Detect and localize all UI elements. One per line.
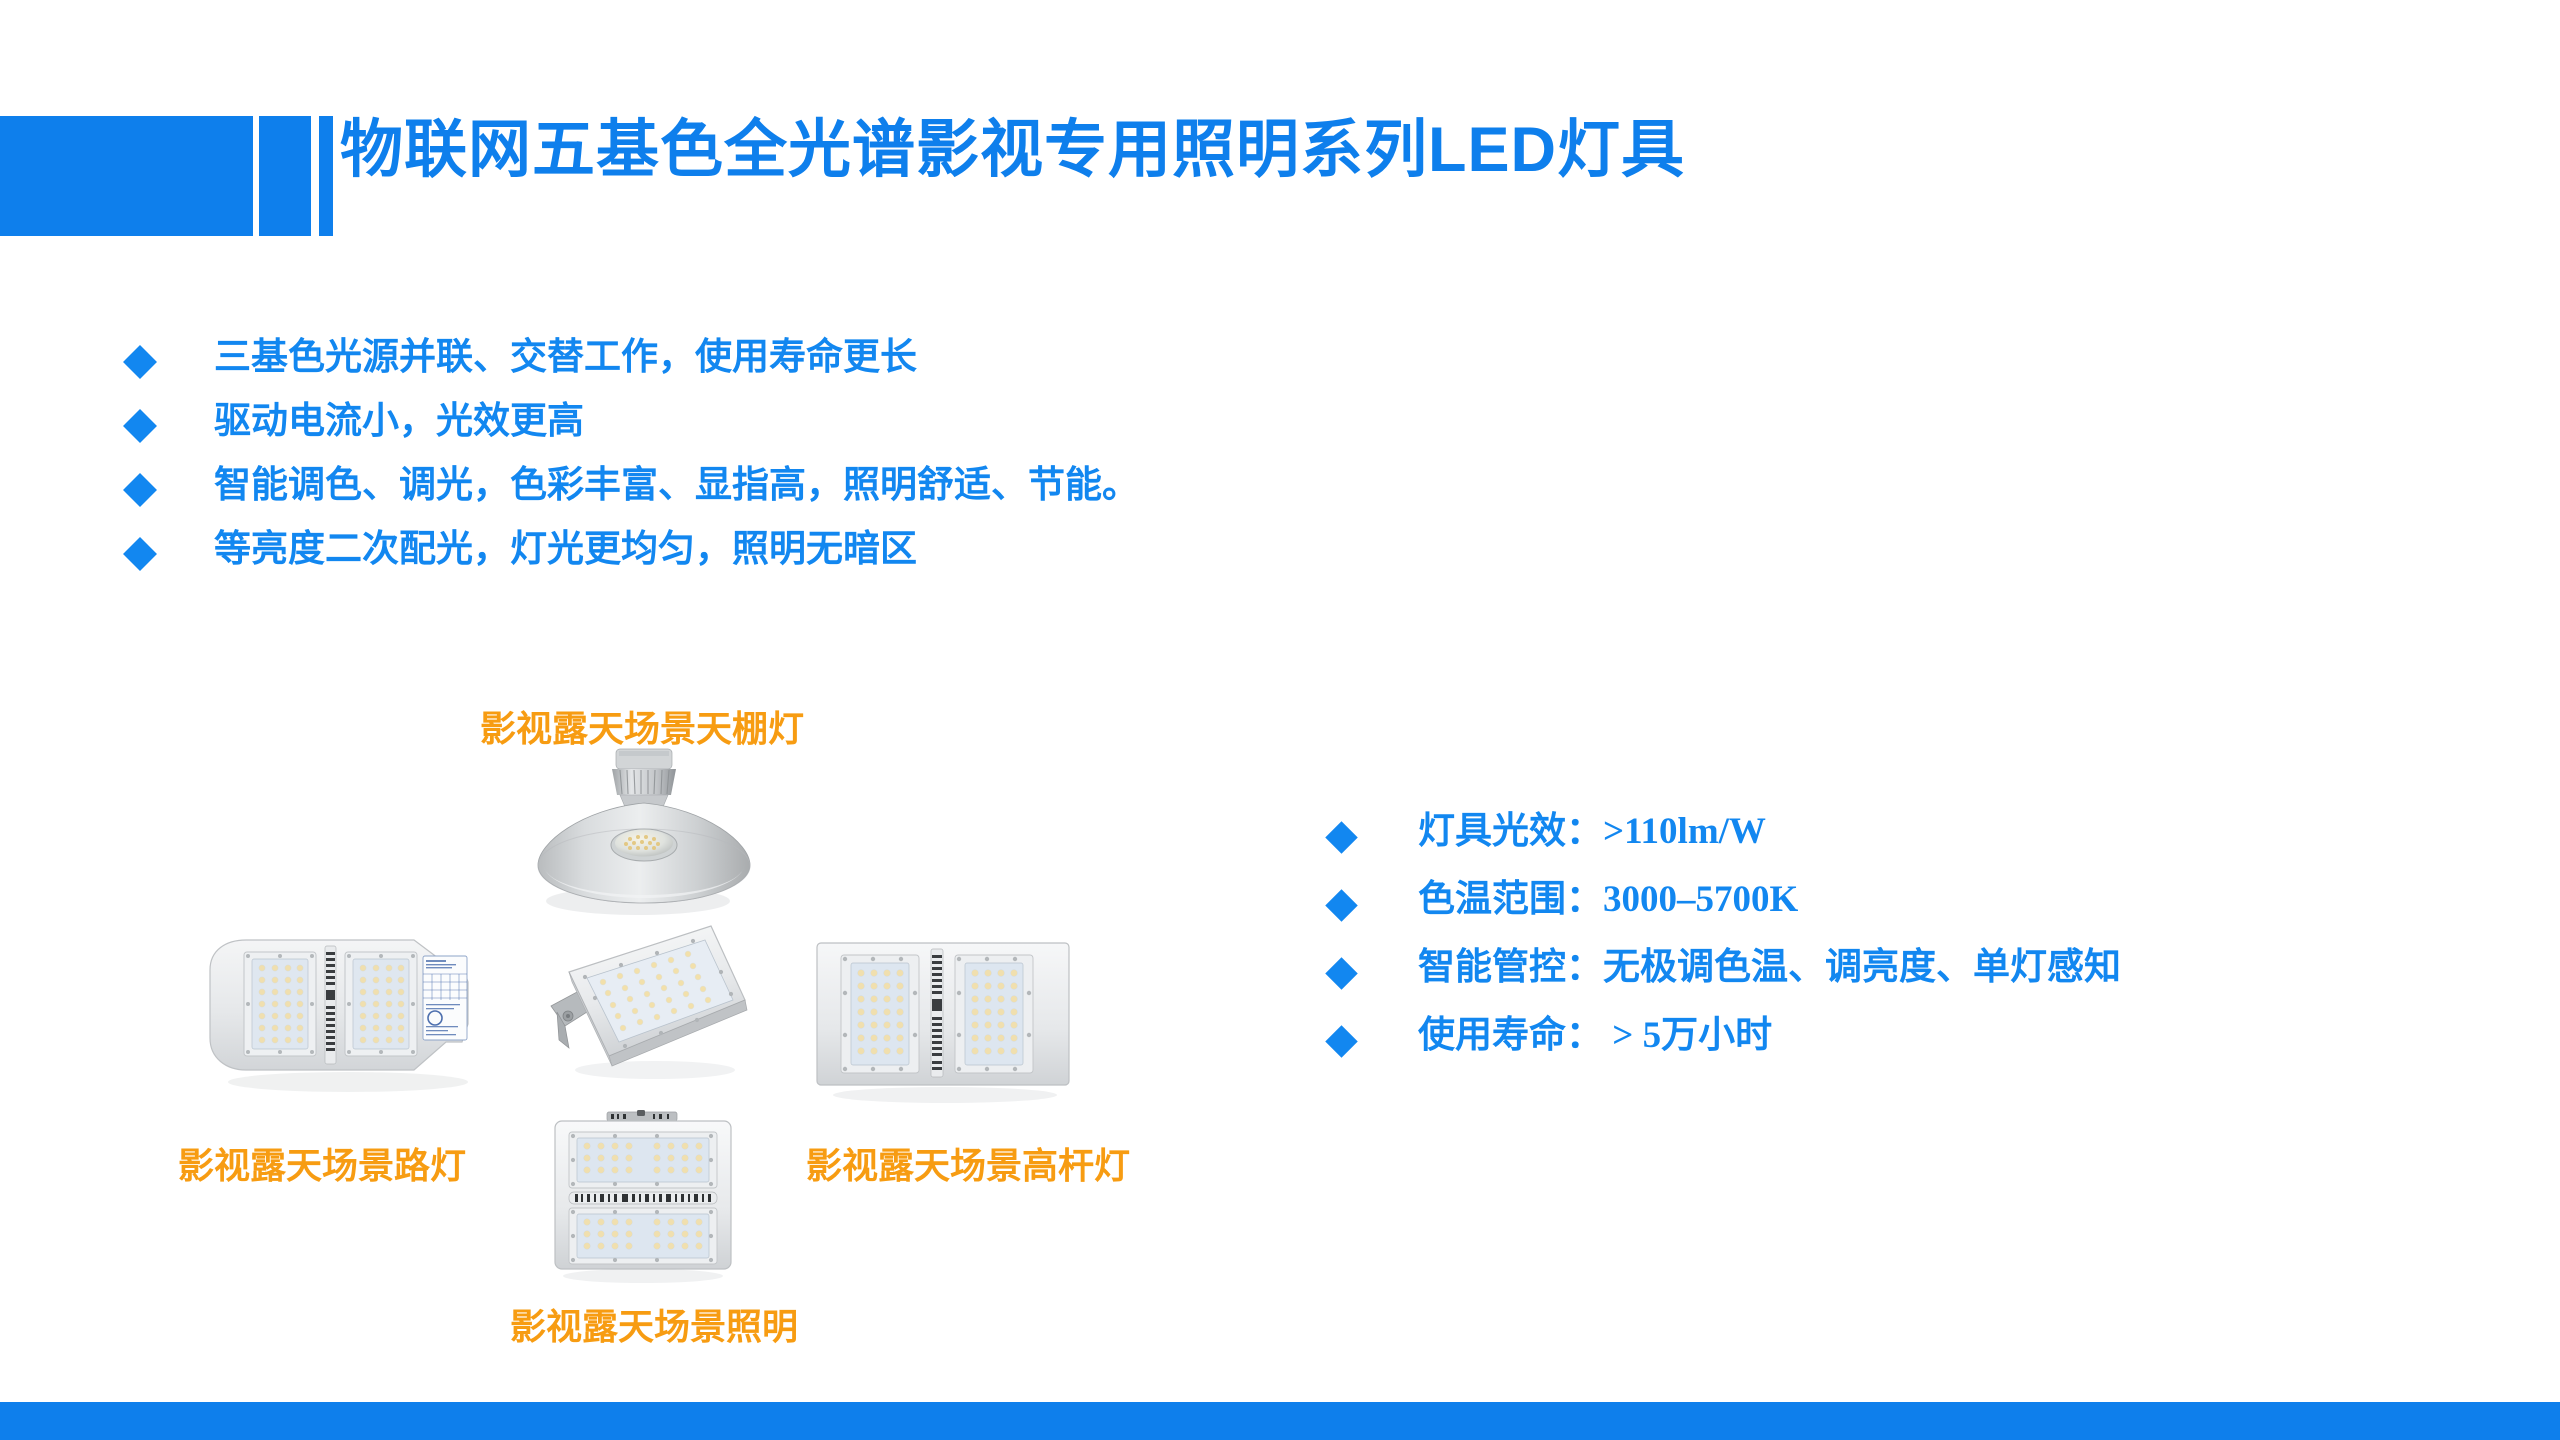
feature-text: 驱动电流小，光效更高 <box>214 400 584 444</box>
specification-bullet-list: 灯具光效：>110lm/W 色温范围：3000–5700K 智能管控：无极调色温… <box>1330 810 2450 1082</box>
product-label-flood: 影视露天场景照明 <box>510 1298 798 1350</box>
list-item: 等亮度二次配光，灯光更均匀，照明无暗区 <box>128 528 1528 592</box>
diamond-bullet-icon <box>1325 957 1358 990</box>
feature-text: 三基色光源并联、交替工作，使用寿命更长 <box>214 336 917 380</box>
list-item: 驱动电流小，光效更高 <box>128 400 1528 464</box>
diamond-bullet-icon <box>123 537 157 571</box>
header-block-large <box>0 116 253 236</box>
list-item: 使用寿命： > 5万小时 <box>1330 1014 2450 1082</box>
list-item: 三基色光源并联、交替工作，使用寿命更长 <box>128 336 1528 400</box>
product-label-high-pole: 影视露天场景高杆灯 <box>806 1137 1130 1189</box>
list-item: 灯具光效：>110lm/W <box>1330 810 2450 878</box>
spec-text: 智能管控：无极调色温、调亮度、单灯感知 <box>1418 946 2121 990</box>
list-item: 智能调色、调光，色彩丰富、显指高，照明舒适、节能。 <box>128 464 1528 528</box>
product-label-canopy: 影视露天场景天棚灯 <box>480 700 804 752</box>
list-item: 色温范围：3000–5700K <box>1330 878 2450 946</box>
diamond-bullet-icon <box>123 345 157 379</box>
diamond-bullet-icon <box>1325 1025 1358 1058</box>
header-block-medium <box>259 116 311 236</box>
spec-text: 色温范围：3000–5700K <box>1418 878 1798 922</box>
diamond-bullet-icon <box>123 409 157 443</box>
diamond-bullet-icon <box>1325 821 1358 854</box>
high-pole-lamp-icon <box>805 935 1080 1110</box>
high-bay-lamp-icon <box>520 735 790 940</box>
header-block-thin <box>319 116 333 236</box>
feature-text: 等亮度二次配光，灯光更均匀，照明无暗区 <box>214 528 917 572</box>
flood-lamp-icon <box>545 1110 740 1285</box>
diamond-bullet-icon <box>1325 889 1358 922</box>
diamond-bullet-icon <box>123 473 157 507</box>
spec-text: 灯具光效：>110lm/W <box>1418 810 1766 854</box>
street-lamp-icon <box>200 930 490 1100</box>
feature-text: 智能调色、调光，色彩丰富、显指高，照明舒适、节能。 <box>214 464 1139 508</box>
spec-text: 使用寿命： > 5万小时 <box>1418 1014 1772 1058</box>
footer-bar <box>0 1402 2560 1440</box>
page-title: 物联网五基色全光谱影视专用照明系列LED灯具 <box>340 110 1685 191</box>
product-label-street: 影视露天场景路灯 <box>178 1137 466 1189</box>
tilted-flood-lamp-icon <box>535 920 755 1095</box>
list-item: 智能管控：无极调色温、调亮度、单灯感知 <box>1330 946 2450 1014</box>
feature-bullet-list: 三基色光源并联、交替工作，使用寿命更长 驱动电流小，光效更高 智能调色、调光，色… <box>128 336 1528 592</box>
